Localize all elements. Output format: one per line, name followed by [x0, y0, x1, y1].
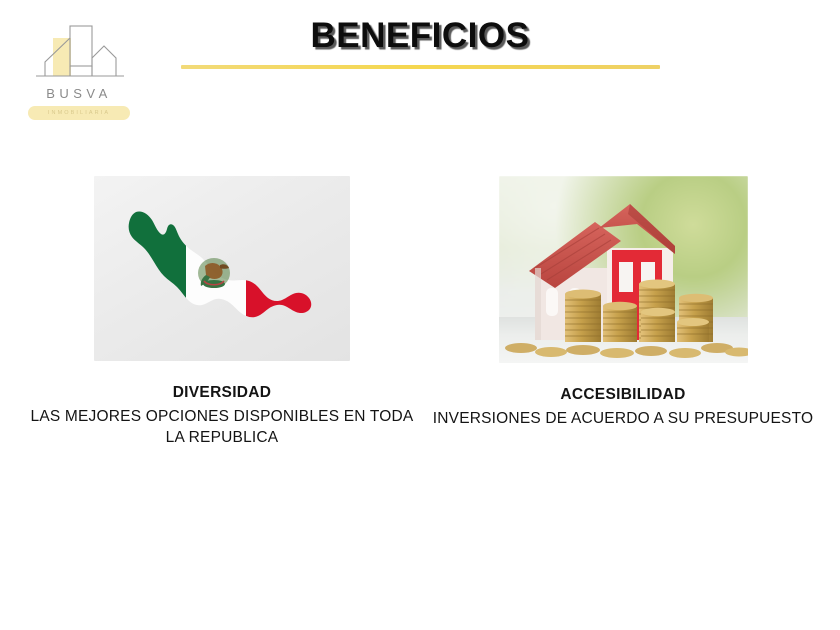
- benefit-description: LAS MEJORES OPCIONES DISPONIBLES EN TODA…: [22, 407, 422, 449]
- mexico-coat-of-arms: [198, 258, 230, 288]
- benefit-column-diversidad: DIVERSIDAD LAS MEJORES OPCIONES DISPONIB…: [22, 176, 422, 448]
- benefit-heading: ACCESIBILIDAD: [428, 385, 818, 406]
- scattered-coins: [505, 343, 748, 358]
- slide-canvas: BUSVA INMOBILIARIA BENEFICIOS: [0, 0, 840, 630]
- logo-wordmark: BUSVA: [24, 86, 134, 101]
- benefit-heading: DIVERSIDAD: [22, 383, 422, 404]
- logo-subtitle-text: INMOBILIARIA: [48, 110, 110, 116]
- title-underline-rule: [181, 65, 660, 69]
- benefit-caption-diversidad: DIVERSIDAD LAS MEJORES OPCIONES DISPONIB…: [22, 383, 422, 448]
- benefit-description: INVERSIONES DE ACUERDO A SU PRESUPUESTO: [428, 409, 818, 430]
- benefit-caption-accesibilidad: ACCESIBILIDAD INVERSIONES DE ACUERDO A S…: [428, 385, 818, 430]
- house-with-coin-stacks-image: [499, 176, 748, 363]
- benefit-column-accesibilidad: ACCESIBILIDAD INVERSIONES DE ACUERDO A S…: [428, 176, 818, 430]
- mexico-map-flag-image: [94, 176, 350, 361]
- page-title: BENEFICIOS: [0, 16, 840, 56]
- logo-subtitle: INMOBILIARIA: [28, 106, 130, 120]
